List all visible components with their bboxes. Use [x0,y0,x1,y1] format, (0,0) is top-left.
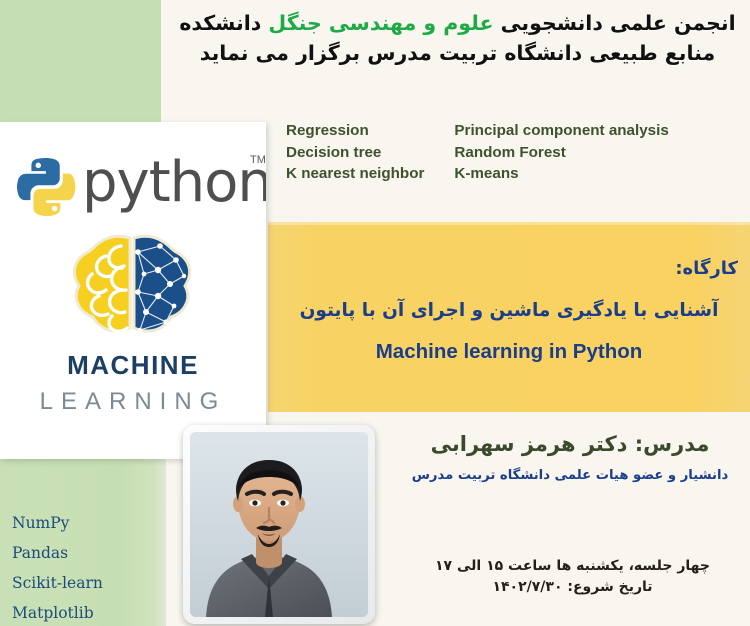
workshop-title-english: Machine learning in Python [268,340,750,364]
topic-item: Regression [286,120,424,142]
schedule-start-date: تاریخ شروع: ۱۴۰۲/۷/۳۰ [400,577,745,598]
instructor-name: مدرس: دکتر هرمز سهرابی [395,432,745,456]
workshop-label: کارگاه: [268,258,738,279]
topics-column-2: Principal component analysis Random Fore… [454,120,668,185]
workshop-title-farsi: آشنایی با یادگیری ماشین و اجرای آن با پا… [268,300,750,321]
python-ml-logo-card: python TM [0,122,266,459]
library-item: Matplotlib [8,598,158,626]
heading-line1-part1: انجمن علمی دانشجویی [494,11,736,35]
schedule-sessions: چهار جلسه، یکشنبه ها ساعت ۱۵ الی ۱۷ [400,556,745,577]
instructor-portrait-illustration [190,432,368,617]
python-wordmark: python [82,152,266,214]
topics-column-1: Regression Decision tree K nearest neigh… [286,120,424,185]
instructor-photo [190,432,368,617]
python-snake-icon [14,154,80,220]
topic-item: K nearest neighbor [286,163,424,185]
python-libraries-list: NumPy Pandas Scikit-learn Matplotlib [8,508,158,626]
library-item: Scikit-learn [8,568,158,598]
topic-item: Random Forest [454,142,668,164]
poster-heading: انجمن علمی دانشجویی علوم و مهندسی جنگل د… [170,8,745,68]
trademark-symbol: TM [250,154,266,166]
python-logo-row: python TM [10,146,260,230]
library-item: NumPy [8,508,158,538]
topic-item: K-means [454,163,668,185]
heading-line-1: انجمن علمی دانشجویی علوم و مهندسی جنگل د… [170,8,745,38]
heading-line1-part2: دانشکده [179,11,268,35]
schedule-info: چهار جلسه، یکشنبه ها ساعت ۱۵ الی ۱۷ تاری… [400,556,745,598]
poster-canvas: انجمن علمی دانشجویی علوم و مهندسی جنگل د… [0,0,750,626]
topics-list: Regression Decision tree K nearest neigh… [286,120,669,185]
brain-icon [66,234,198,342]
topic-item: Principal component analysis [454,120,668,142]
library-item: Pandas [8,538,158,568]
left-green-panel-top [0,0,161,123]
machine-label: MACHINE [0,350,266,381]
heading-line1-highlight: علوم و مهندسی جنگل [268,11,493,35]
instructor-affiliation: دانشیار و عضو هیات علمی دانشگاه تربیت مد… [395,468,745,483]
topic-item: Decision tree [286,142,424,164]
heading-line-2: منابع طبیعی دانشگاه تربیت مدرس برگزار می… [170,38,745,68]
learning-label: LEARNING [0,388,266,416]
instructor-photo-frame [183,425,375,624]
